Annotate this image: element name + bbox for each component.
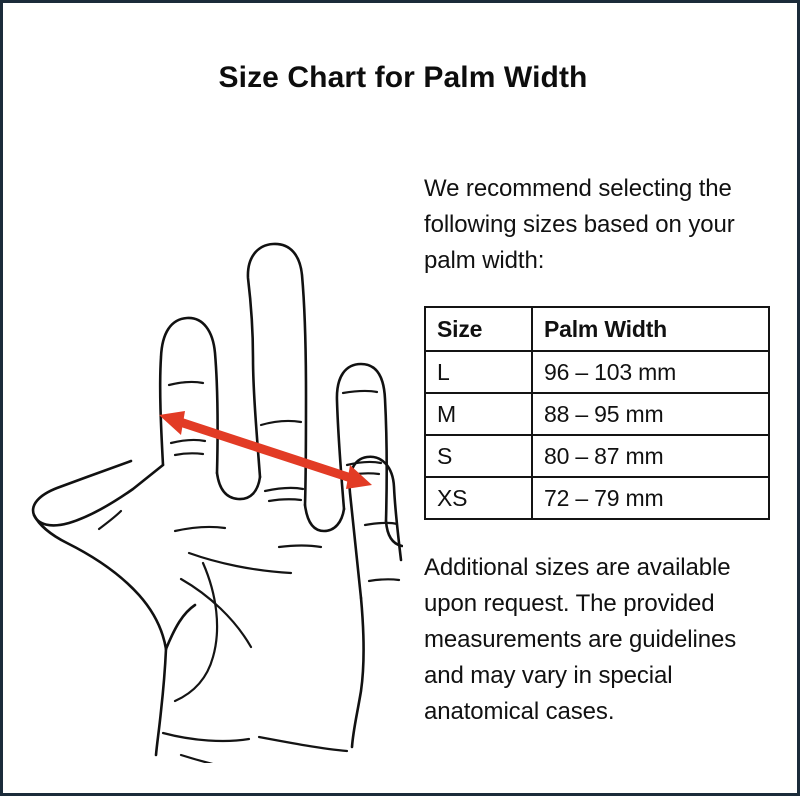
cell-size: XS: [425, 477, 532, 519]
cell-palm-width: 80 – 87 mm: [532, 435, 769, 477]
hand-diagram-svg: [3, 143, 403, 763]
cell-palm-width: 88 – 95 mm: [532, 393, 769, 435]
intro-paragraph: We recommend selecting the following siz…: [424, 171, 772, 279]
header-palm-width: Palm Width: [532, 307, 769, 351]
table-header-row: Size Palm Width: [425, 307, 769, 351]
cell-size: L: [425, 351, 532, 393]
page-title: Size Chart for Palm Width: [3, 61, 800, 95]
cell-palm-width: 72 – 79 mm: [532, 477, 769, 519]
cell-size: S: [425, 435, 532, 477]
arrow-shaft: [174, 420, 357, 480]
palm-crease-lines: [99, 511, 347, 763]
table-row: S 80 – 87 mm: [425, 435, 769, 477]
header-size: Size: [425, 307, 532, 351]
arrow-head-right: [346, 465, 372, 489]
cell-palm-width: 96 – 103 mm: [532, 351, 769, 393]
info-panel: We recommend selecting the following siz…: [424, 171, 774, 730]
table-row: M 88 – 95 mm: [425, 393, 769, 435]
hand-illustration: [3, 143, 403, 763]
outro-paragraph: Additional sizes are available upon requ…: [424, 550, 774, 730]
cell-size: M: [425, 393, 532, 435]
arrow-head-left: [159, 411, 185, 435]
table-row: XS 72 – 79 mm: [425, 477, 769, 519]
table-row: L 96 – 103 mm: [425, 351, 769, 393]
hand-outline: [160, 244, 402, 546]
size-chart-card: Size Chart for Palm Width: [0, 0, 800, 796]
size-table: Size Palm Width L 96 – 103 mm M 88 – 95 …: [424, 306, 770, 520]
